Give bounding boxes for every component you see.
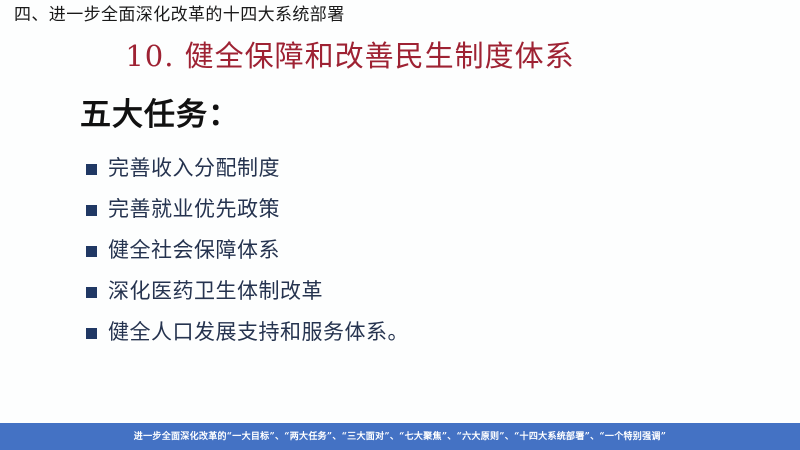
- section-header: 四、进一步全面深化改革的十四大系统部署: [14, 4, 345, 26]
- footer-text: 进一步全面深化改革的“一大目标”、“两大任务”、“三大面对”、“七大聚焦”、“六…: [134, 431, 666, 443]
- list-item: 健全社会保障体系: [86, 230, 706, 271]
- list-item-label: 完善收入分配制度: [108, 156, 280, 182]
- list-item-label: 健全社会保障体系: [108, 238, 280, 264]
- task-bullet-list: 完善收入分配制度 完善就业优先政策 健全社会保障体系 深化医药卫生体制改革 健全…: [86, 148, 706, 353]
- list-item-label: 深化医药卫生体制改革: [108, 279, 323, 305]
- list-item: 完善就业优先政策: [86, 189, 706, 230]
- square-bullet-icon: [86, 287, 97, 298]
- page-title: 10. 健全保障和改善民生制度体系: [0, 38, 700, 74]
- list-item: 完善收入分配制度: [86, 148, 706, 189]
- square-bullet-icon: [86, 164, 97, 175]
- list-item-label: 健全人口发展支持和服务体系。: [108, 320, 409, 346]
- subheading: 五大任务：: [80, 96, 240, 134]
- square-bullet-icon: [86, 246, 97, 257]
- square-bullet-icon: [86, 328, 97, 339]
- list-item: 深化医药卫生体制改革: [86, 271, 706, 312]
- presentation-slide: 四、进一步全面深化改革的十四大系统部署 10. 健全保障和改善民生制度体系 五大…: [0, 0, 800, 450]
- list-item-label: 完善就业优先政策: [108, 197, 280, 223]
- footer-banner: 进一步全面深化改革的“一大目标”、“两大任务”、“三大面对”、“七大聚焦”、“六…: [0, 423, 800, 450]
- list-item: 健全人口发展支持和服务体系。: [86, 312, 706, 353]
- square-bullet-icon: [86, 205, 97, 216]
